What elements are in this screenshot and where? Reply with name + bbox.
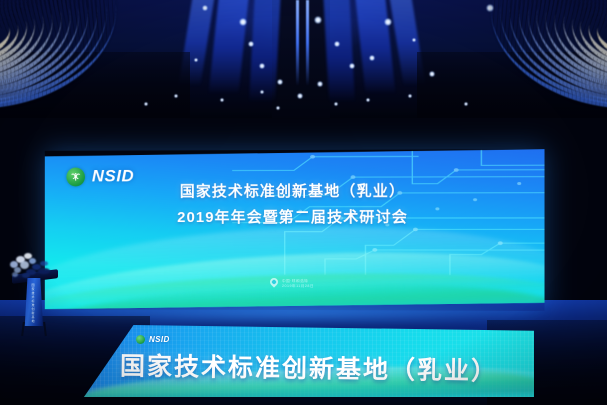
- spotlight-icon: [334, 102, 338, 106]
- nsid-emblem-icon: [66, 167, 85, 186]
- led-screen: NSID 国家技术标准创新基地（乳业） 2019年年会暨第二届技术研讨会 中国·…: [45, 149, 545, 311]
- venue-line-2: 2019年11月28日: [282, 284, 314, 289]
- spotlight-icon: [297, 93, 303, 99]
- lower-stage-banner: NSID 国家技术标准创新基地（乳业）: [84, 325, 534, 397]
- flower-cluster: [40, 261, 48, 266]
- screen-nsid-logo: NSID: [66, 166, 134, 186]
- chandelier-right-icon: [445, 0, 607, 115]
- chandelier-rib: [485, 0, 607, 113]
- spotlight-icon: [220, 98, 224, 102]
- flower-cluster: [12, 272, 18, 277]
- ceiling-beam: [355, 0, 396, 94]
- spotlight-icon: [239, 18, 247, 26]
- screen-title-line-1: 国家技术标准创新基地（乳业）: [133, 180, 453, 202]
- podium: 国家技术标准创新基地: [12, 258, 58, 326]
- spotlight-icon: [317, 81, 322, 86]
- banner-nsid-logo: NSID: [136, 335, 170, 344]
- spotlight-icon: [349, 63, 355, 69]
- spotlight-icon: [202, 5, 208, 11]
- location-pin-icon: [270, 278, 278, 289]
- screen-title-block: 国家技术标准创新基地（乳业） 2019年年会暨第二届技术研讨会: [133, 180, 453, 227]
- podium-label: 国家技术标准创新基地: [27, 284, 39, 323]
- spotlight-icon: [408, 94, 413, 99]
- venue-line-1: 中国·呼和浩特: [282, 278, 314, 283]
- nsid-wordmark: NSID: [92, 166, 134, 186]
- led-screen-surface: NSID 国家技术标准创新基地（乳业） 2019年年会暨第二届技术研讨会 中国·…: [45, 149, 545, 311]
- ceiling-beam: [323, 0, 355, 102]
- spotlight-icon: [314, 16, 322, 24]
- flower-cluster: [22, 273, 30, 278]
- screen-venue-block: 中国·呼和浩特 2019年11月28日: [270, 278, 314, 289]
- spotlight-icon: [248, 41, 254, 47]
- spotlight-icon: [277, 79, 283, 85]
- ceiling-light-stripe: [306, 0, 309, 86]
- spotlight-icon: [334, 41, 340, 47]
- chandelier-rib: [0, 0, 122, 113]
- ceiling-beam: [209, 0, 250, 94]
- spotlight-icon: [259, 63, 265, 69]
- nsid-emblem-icon: [136, 335, 145, 344]
- floral-arrangement-icon: [10, 252, 54, 282]
- banner-title: 国家技术标准创新基地（乳业）: [120, 346, 498, 387]
- spotlight-icon: [429, 71, 434, 76]
- ceiling: [0, 0, 607, 118]
- venue-text: 中国·呼和浩特 2019年11月28日: [282, 278, 314, 288]
- ceiling-light-stripe: [296, 0, 299, 86]
- podium-legs: [20, 322, 48, 336]
- spotlight-icon: [384, 18, 392, 26]
- flower-cluster: [20, 261, 29, 269]
- nsid-wordmark: NSID: [149, 335, 170, 344]
- stage-photo-scene: NSID 国家技术标准创新基地（乳业） 2019年年会暨第二届技术研讨会 中国·…: [0, 0, 607, 405]
- flower-cluster: [38, 268, 50, 274]
- screen-title-line-2: 2019年年会暨第二届技术研讨会: [133, 206, 453, 227]
- spotlight-icon: [366, 98, 370, 102]
- chandelier-left-icon: [0, 0, 162, 115]
